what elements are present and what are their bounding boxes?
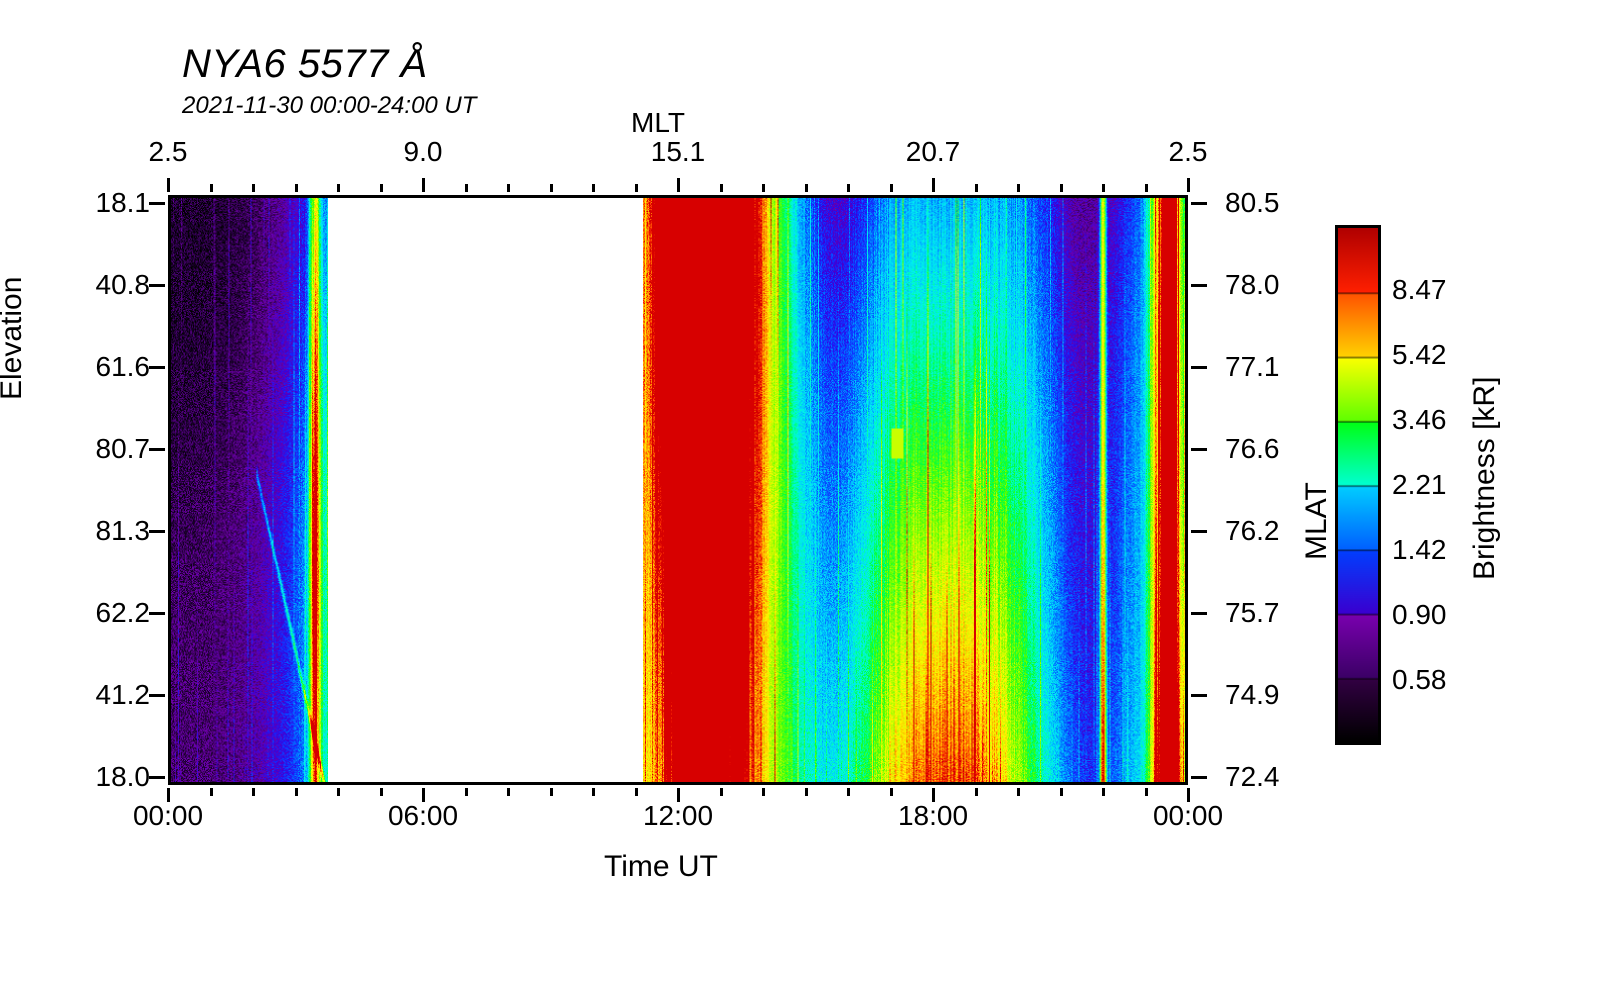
colorbar-tick-label: 5.42 [1392,339,1447,371]
top-axis-tick [380,184,383,192]
left-axis-tick-label: 18.0 [70,761,150,793]
colorbar-tick-label: 2.21 [1392,469,1447,501]
bottom-axis-tick [805,788,808,796]
colorbar-tick-label: 3.46 [1392,404,1447,436]
top-axis-tick [720,184,723,192]
top-axis-tick [635,184,638,192]
right-axis-tick [1191,366,1207,369]
top-axis-tick [1187,178,1190,192]
right-axis-tick [1191,776,1207,779]
top-axis-tick [890,184,893,192]
bottom-axis-tick-label: 18:00 [898,800,968,832]
bottom-axis-tick [1102,788,1105,796]
right-axis-tick-label: 72.4 [1225,761,1280,793]
figure-title: NYA6 5577 Å [182,42,428,87]
left-axis-tick [149,612,165,615]
top-axis-tick [762,184,765,192]
top-axis-tick [422,178,425,192]
bottom-axis-tick [380,788,383,796]
top-axis-tick-label: 9.0 [404,136,443,168]
figure-root: NYA6 5577 Å 2021-11-30 00:00-24:00 UT ML… [0,0,1600,1000]
left-axis-tick-label: 80.7 [70,433,150,465]
right-axis-title: MLAT [1300,482,1334,560]
keogram-plot-area [168,195,1188,785]
right-axis-tick [1191,284,1207,287]
bottom-axis-tick [1060,788,1063,796]
bottom-axis-tick [337,788,340,796]
right-axis-tick-label: 77.1 [1225,351,1280,383]
top-axis-tick [805,184,808,192]
bottom-axis-tick [635,788,638,796]
bottom-axis-tick [890,788,893,796]
bottom-axis-tick-label: 06:00 [388,800,458,832]
left-axis-tick [149,694,165,697]
bottom-axis-tick [550,788,553,796]
bottom-axis-tick-label: 00:00 [133,800,203,832]
bottom-axis-tick [975,788,978,796]
bottom-axis-tick [592,788,595,796]
bottom-axis-tick [507,788,510,796]
right-axis-tick [1191,448,1207,451]
bottom-axis-tick [762,788,765,796]
left-axis-tick [149,776,165,779]
top-axis-tick [210,184,213,192]
left-axis-tick-label: 62.2 [70,597,150,629]
keogram-canvas-wrap [171,198,1185,782]
right-axis-tick-label: 80.5 [1225,187,1280,219]
top-axis-tick-label: 15.1 [651,136,706,168]
bottom-axis-tick [210,788,213,796]
left-axis-tick [149,284,165,287]
left-axis-tick-label: 40.8 [70,269,150,301]
bottom-axis-tick [720,788,723,796]
bottom-axis-tick [847,788,850,796]
left-axis-tick [149,202,165,205]
right-axis-tick [1191,694,1207,697]
top-axis-tick [592,184,595,192]
left-axis-tick-label: 41.2 [70,679,150,711]
top-axis-tick [1145,184,1148,192]
left-axis-tick-label: 81.3 [70,515,150,547]
right-axis-tick-label: 78.0 [1225,269,1280,301]
colorbar-tick-label: 1.42 [1392,534,1447,566]
top-axis-tick-label: 2.5 [149,136,188,168]
bottom-axis-tick-label: 12:00 [643,800,713,832]
top-axis-tick-label: 2.5 [1169,136,1208,168]
right-axis-tick-label: 75.7 [1225,597,1280,629]
keogram-image [171,198,1185,782]
top-axis-tick [677,178,680,192]
right-axis-tick-label: 76.2 [1225,515,1280,547]
top-axis-title: MLT [631,107,685,139]
left-axis-tick-label: 18.1 [70,187,150,219]
top-axis-tick [507,184,510,192]
top-axis-tick [1017,184,1020,192]
top-axis-tick [932,178,935,192]
colorbar-tick-label: 0.58 [1392,664,1447,696]
bottom-axis-tick [295,788,298,796]
colorbar-tick-label: 0.90 [1392,599,1447,631]
right-axis-tick [1191,530,1207,533]
left-axis-title: Elevation [0,277,29,400]
bottom-axis-tick [465,788,468,796]
top-axis-tick [550,184,553,192]
left-axis-tick [149,448,165,451]
left-axis-tick-label: 61.6 [70,351,150,383]
colorbar-title: Brightness [kR] [1468,377,1502,580]
top-axis-tick [252,184,255,192]
top-axis-tick [1060,184,1063,192]
left-axis-tick [149,366,165,369]
top-axis-tick [337,184,340,192]
top-axis-tick-label: 20.7 [906,136,961,168]
right-axis-tick-label: 74.9 [1225,679,1280,711]
bottom-axis-tick-label: 00:00 [1153,800,1223,832]
top-axis-tick [975,184,978,192]
top-axis-tick [1102,184,1105,192]
left-axis-tick [149,530,165,533]
colorbar-tick-label: 8.47 [1392,274,1447,306]
top-axis-tick [465,184,468,192]
bottom-axis-tick [1017,788,1020,796]
colorbar [1335,225,1381,745]
bottom-axis-tick [252,788,255,796]
right-axis-tick-label: 76.6 [1225,433,1280,465]
top-axis-tick [295,184,298,192]
figure-subtitle: 2021-11-30 00:00-24:00 UT [182,92,476,120]
top-axis-tick [167,178,170,192]
right-axis-tick [1191,202,1207,205]
top-axis-tick [847,184,850,192]
colorbar-gradient [1338,228,1378,742]
bottom-axis-title: Time UT [604,850,718,884]
bottom-axis-tick [1145,788,1148,796]
right-axis-tick [1191,612,1207,615]
